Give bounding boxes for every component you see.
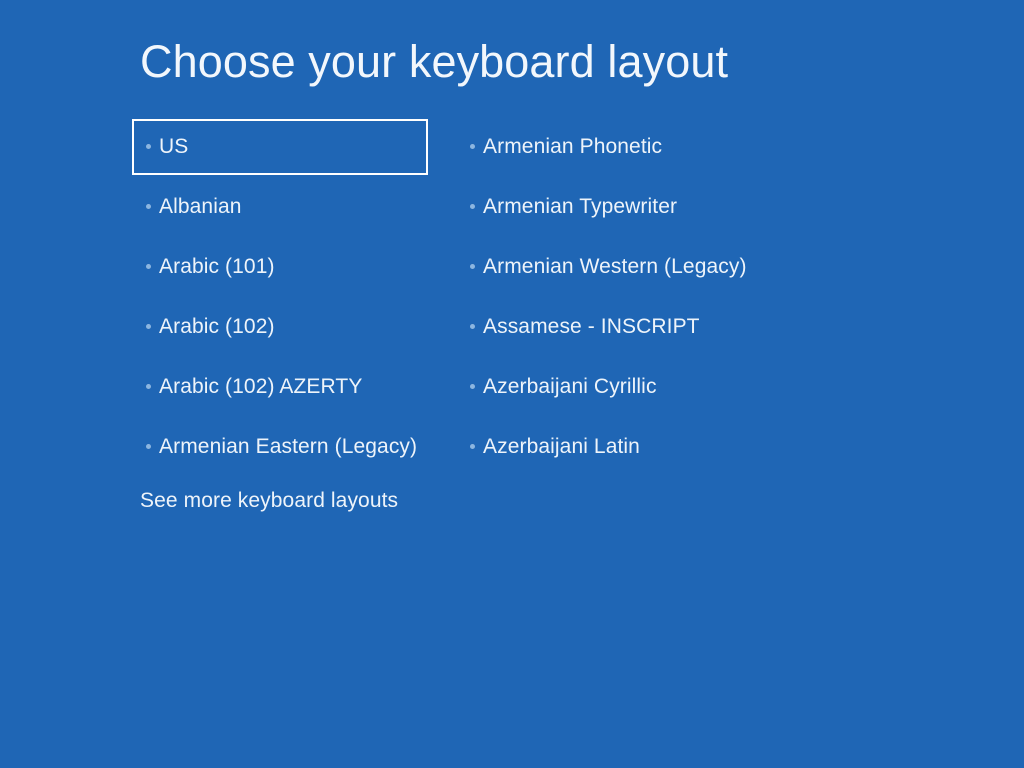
page-title: Choose your keyboard layout — [140, 36, 728, 88]
bullet-icon — [146, 264, 151, 269]
bullet-icon — [146, 324, 151, 329]
keyboard-layout-option-armenian-phonetic[interactable]: Armenian Phonetic — [458, 119, 788, 175]
option-label: Armenian Typewriter — [483, 195, 677, 219]
bullet-icon — [470, 444, 475, 449]
bullet-icon — [470, 384, 475, 389]
option-label: Albanian — [159, 195, 242, 219]
option-label: Azerbaijani Latin — [483, 435, 640, 459]
option-label: Assamese - INSCRIPT — [483, 315, 700, 339]
option-label: Azerbaijani Cyrillic — [483, 375, 657, 399]
keyboard-layout-option-azerbaijani-latin[interactable]: Azerbaijani Latin — [458, 419, 788, 475]
keyboard-layout-column-left: US Albanian Arabic (101) Arabic (102) Ar… — [132, 119, 428, 479]
bullet-icon — [146, 204, 151, 209]
keyboard-layout-option-us[interactable]: US — [132, 119, 428, 175]
keyboard-layout-option-armenian-western-legacy[interactable]: Armenian Western (Legacy) — [458, 239, 788, 295]
see-more-keyboard-layouts-link[interactable]: See more keyboard layouts — [140, 489, 398, 513]
option-label: Armenian Phonetic — [483, 135, 662, 159]
keyboard-layout-option-albanian[interactable]: Albanian — [132, 179, 428, 235]
option-label: Armenian Western (Legacy) — [483, 255, 747, 279]
bullet-icon — [470, 204, 475, 209]
option-label: Armenian Eastern (Legacy) — [159, 435, 417, 459]
bullet-icon — [146, 144, 151, 149]
keyboard-layout-option-armenian-eastern-legacy[interactable]: Armenian Eastern (Legacy) — [132, 419, 428, 475]
bullet-icon — [146, 444, 151, 449]
bullet-icon — [470, 324, 475, 329]
option-label: Arabic (102) AZERTY — [159, 375, 362, 399]
option-label: Arabic (101) — [159, 255, 275, 279]
option-label: US — [159, 135, 188, 159]
bullet-icon — [146, 384, 151, 389]
option-label: Arabic (102) — [159, 315, 275, 339]
keyboard-layout-column-right: Armenian Phonetic Armenian Typewriter Ar… — [458, 119, 788, 479]
keyboard-layout-option-assamese-inscript[interactable]: Assamese - INSCRIPT — [458, 299, 788, 355]
keyboard-layout-screen: Choose your keyboard layout US Albanian … — [0, 0, 1024, 768]
keyboard-layout-option-azerbaijani-cyrillic[interactable]: Azerbaijani Cyrillic — [458, 359, 788, 415]
keyboard-layout-option-arabic-102[interactable]: Arabic (102) — [132, 299, 428, 355]
keyboard-layout-option-armenian-typewriter[interactable]: Armenian Typewriter — [458, 179, 788, 235]
keyboard-layout-option-arabic-102-azerty[interactable]: Arabic (102) AZERTY — [132, 359, 428, 415]
bullet-icon — [470, 144, 475, 149]
keyboard-layout-option-arabic-101[interactable]: Arabic (101) — [132, 239, 428, 295]
bullet-icon — [470, 264, 475, 269]
